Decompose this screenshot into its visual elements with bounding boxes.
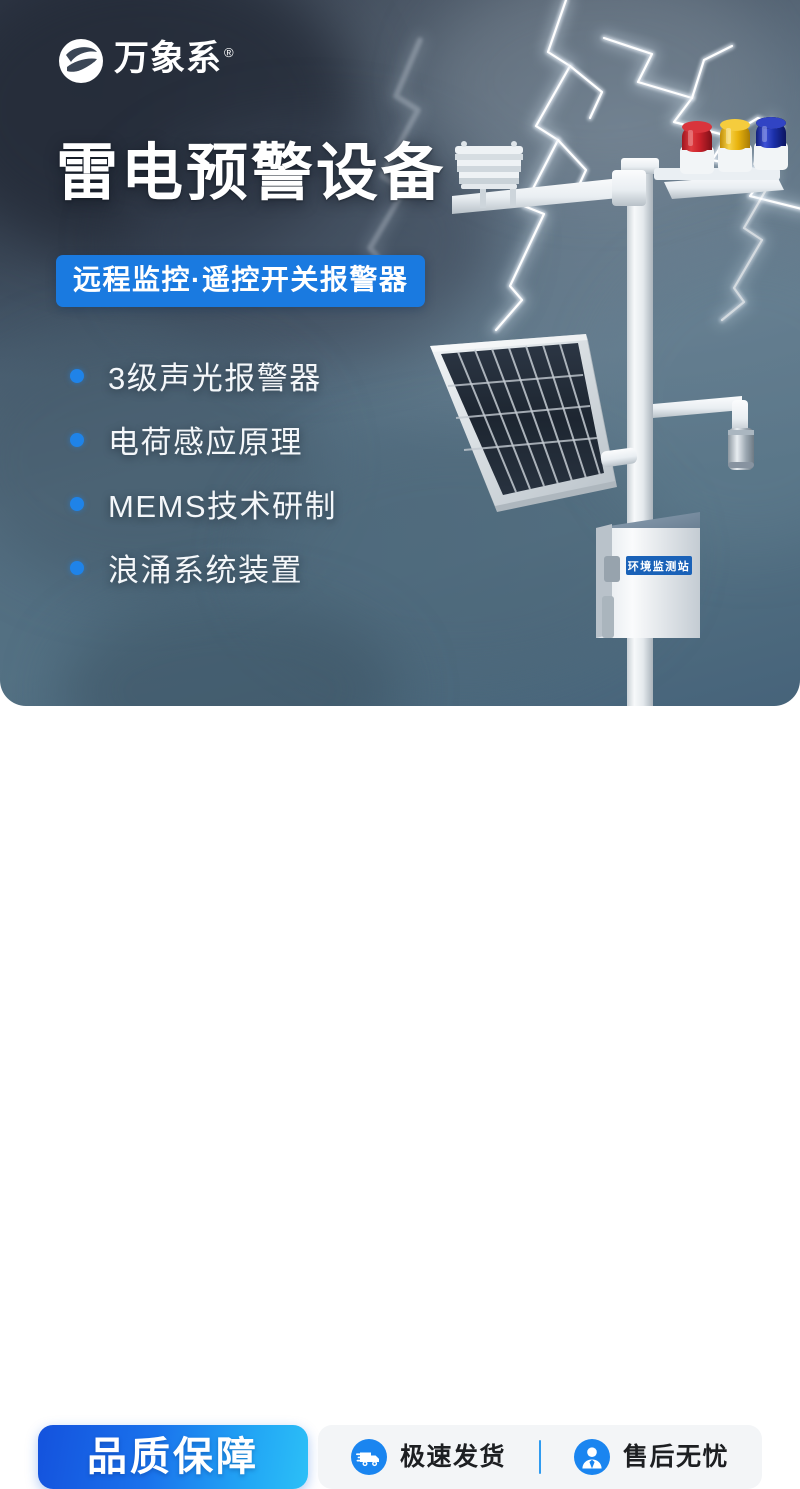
service-bar: 品质保障 极速发货: [0, 706, 800, 800]
bullet-dot-icon: [70, 497, 84, 511]
bullet-dot-icon: [70, 433, 84, 447]
customer-service-agent-icon: [574, 1439, 610, 1475]
service-item-shipping: 极速发货: [318, 1439, 539, 1475]
radiation-shield-sensor: [455, 141, 523, 208]
page-title: 雷电预警设备: [56, 141, 446, 206]
quality-badge-label: 品质保障: [87, 1437, 259, 1477]
cross-arm: [452, 176, 640, 214]
red-alarm-beacon: [680, 121, 714, 174]
storm-cloud: [600, 250, 800, 550]
lightning-bolt-icon: [700, 120, 800, 320]
feature-item: 浪涌系统装置: [70, 537, 337, 598]
lightning-bolt-icon: [470, 0, 650, 330]
feature-label: 电荷感应原理: [108, 417, 303, 462]
yellow-alarm-beacon: [718, 119, 752, 172]
brand-name: 万象系: [114, 39, 222, 78]
circular-swoosh-logo-icon: [58, 38, 104, 84]
bullet-dot-icon: [70, 369, 84, 383]
storm-cloud: [60, 600, 400, 706]
cabinet-label: 环境监测站: [628, 559, 691, 573]
camera-sensor: [653, 396, 754, 470]
service-label: 极速发货: [400, 1445, 506, 1470]
hero-image: 环境监测站 万象系® 雷电预警设备 远程监控·遥控开关报警器 3级声光报: [0, 0, 800, 706]
service-item-aftersales: 售后无忧: [541, 1439, 762, 1475]
product-poster: 环境监测站 万象系® 雷电预警设备 远程监控·遥控开关报警器 3级声光报: [0, 0, 800, 800]
feature-item: MEMS技术研制: [70, 473, 337, 534]
feature-list: 3级声光报警器 电荷感应原理 MEMS技术研制 浪涌系统装置: [70, 345, 337, 601]
feature-label: 3级声光报警器: [108, 353, 322, 398]
feature-label: MEMS技术研制: [108, 481, 337, 526]
brand-name-wrap: 万象系®: [114, 36, 235, 82]
beacon-mount-plate: [664, 174, 784, 199]
registered-mark: ®: [224, 45, 235, 60]
brand-logo: 万象系®: [58, 36, 235, 84]
feature-item: 3级声光报警器: [70, 345, 337, 406]
lightning-bolt-icon: [600, 10, 800, 240]
storm-cloud: [430, 0, 770, 190]
mast-pole: [627, 158, 653, 706]
delivery-truck-icon: [351, 1439, 387, 1475]
feature-label: 浪涌系统装置: [108, 545, 303, 590]
quality-badge: 品质保障: [38, 1425, 308, 1489]
subtitle-banner: 远程监控·遥控开关报警器: [56, 255, 425, 307]
service-label: 售后无忧: [623, 1445, 729, 1470]
service-panel: 极速发货 售后无忧: [318, 1425, 762, 1489]
bullet-dot-icon: [70, 561, 84, 575]
blue-alarm-beacon: [754, 117, 788, 170]
feature-item: 电荷感应原理: [70, 409, 337, 470]
controller-cabinet: 环境监测站: [596, 512, 700, 638]
solar-panel: [430, 334, 638, 512]
